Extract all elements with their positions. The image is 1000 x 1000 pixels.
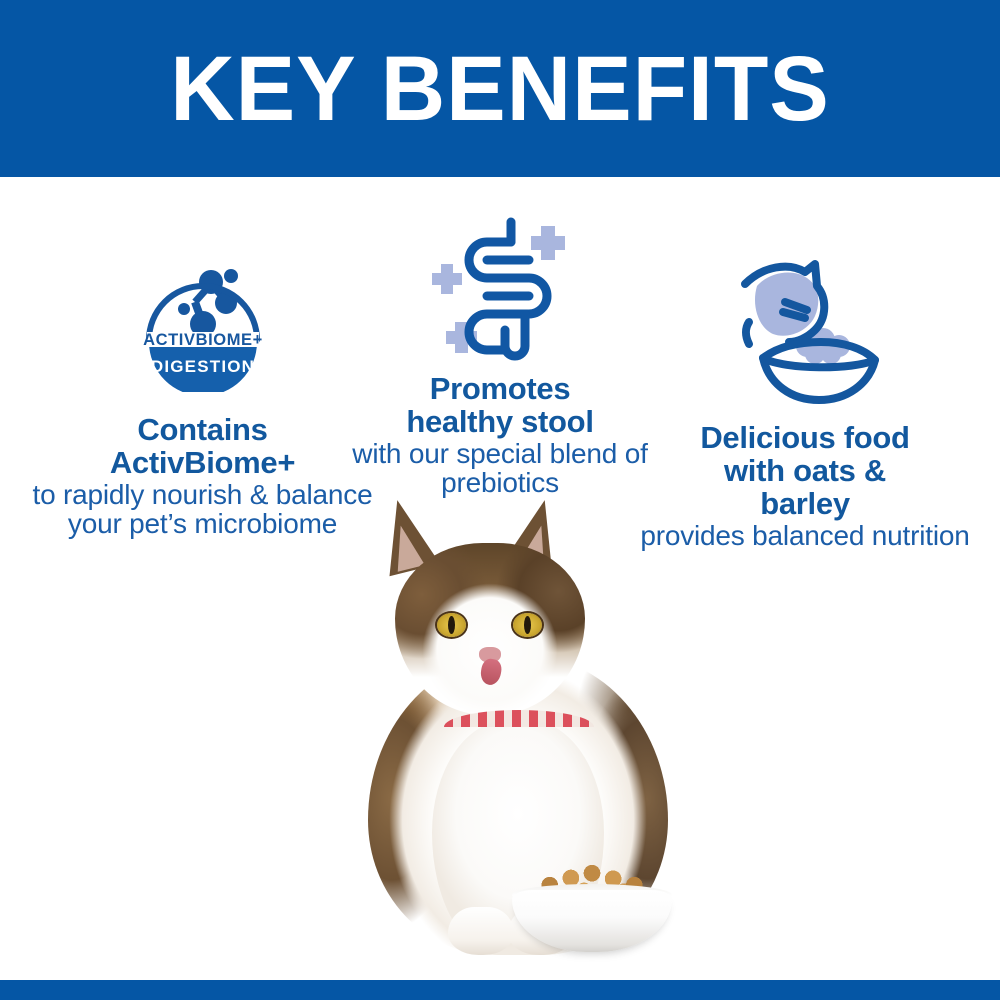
benefit-card-healthy-stool: Promotes healthy stool with our special … xyxy=(345,206,655,498)
cat-eye-right xyxy=(513,613,542,637)
benefit-headline-line-1: Delicious food xyxy=(640,422,970,455)
benefit-headline-line-2: ActivBiome+ xyxy=(30,447,375,480)
benefit-subtext: with our special blend of prebiotics xyxy=(345,439,655,498)
benefit-subtext: to rapidly nourish & balance your pet’s … xyxy=(30,480,375,539)
cat-eye-left xyxy=(437,613,466,637)
page-title: KEY BENEFITS xyxy=(170,43,830,135)
cat-eating-bowl-icon xyxy=(640,258,970,408)
food-bowl xyxy=(512,862,672,954)
badge-bottom-label: DIGESTION xyxy=(150,357,254,376)
cat-tongue xyxy=(479,657,503,686)
benefit-text-healthy-stool: Promotes healthy stool with our special … xyxy=(345,373,655,498)
benefit-headline-line-2: healthy stool xyxy=(345,406,655,439)
benefit-headline-line-1: Promotes xyxy=(345,373,655,406)
molecule-glyph xyxy=(178,269,238,337)
benefit-headline-line-2: with oats & xyxy=(640,455,970,488)
bowl-shell xyxy=(512,890,672,952)
activbiome-digestion-badge-icon: ACTIVBIOME+ DIGESTION xyxy=(30,262,375,392)
benefit-card-activbiome: ACTIVBIOME+ DIGESTION Contains ActivBiom… xyxy=(30,262,375,539)
header-banner: KEY BENEFITS xyxy=(0,0,1000,177)
cat-paw-left xyxy=(448,907,514,955)
benefit-headline-line-1: Contains xyxy=(30,414,375,447)
badge-top-label: ACTIVBIOME+ xyxy=(143,331,263,349)
footer-bar xyxy=(0,980,1000,1000)
benefit-text-activbiome: Contains ActivBiome+ to rapidly nourish … xyxy=(30,414,375,539)
intestine-icon xyxy=(345,206,655,361)
